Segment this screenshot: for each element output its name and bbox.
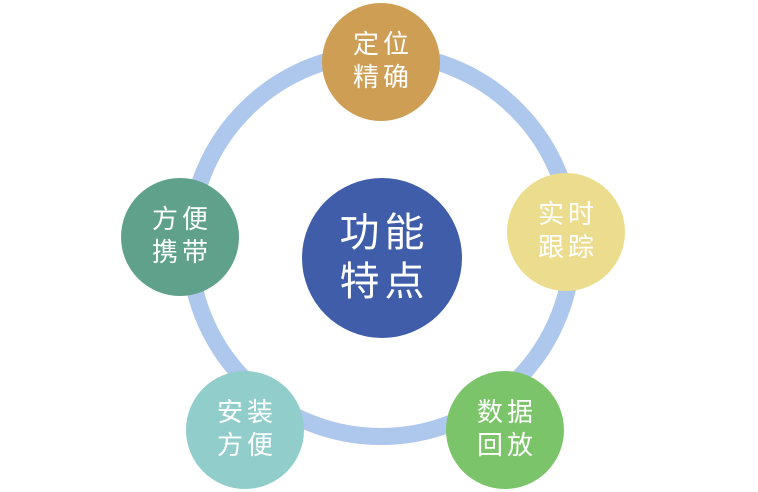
node-easy-installation[interactable]: 安装 方便 [186,371,304,489]
node-label-line-1: 方便 [148,204,212,237]
node-label-line-2: 回放 [473,430,537,463]
node-label-line-2: 精确 [349,62,413,95]
node-label-line-1: 实时 [534,199,598,232]
node-label-line-2: 携带 [148,237,212,270]
node-portable[interactable]: 方便 携带 [121,178,239,296]
hub-label-line-2: 特点 [335,258,430,307]
hub-node-functional-features[interactable]: 功能 特点 [302,178,462,338]
node-realtime-tracking[interactable]: 实时 跟踪 [507,173,625,291]
diagram-canvas: 功能 特点 定位 精确 实时 跟踪 数据 回放 安装 方便 方便 携带 [0,0,758,492]
node-positioning-accuracy[interactable]: 定位 精确 [322,3,440,121]
node-label-line-2: 跟踪 [534,232,598,265]
node-data-playback[interactable]: 数据 回放 [446,371,564,489]
hub-label-line-1: 功能 [335,209,430,258]
node-label-line-1: 安装 [213,397,277,430]
node-label-line-2: 方便 [213,430,277,463]
node-label-line-1: 定位 [349,29,413,62]
node-label-line-1: 数据 [473,397,537,430]
